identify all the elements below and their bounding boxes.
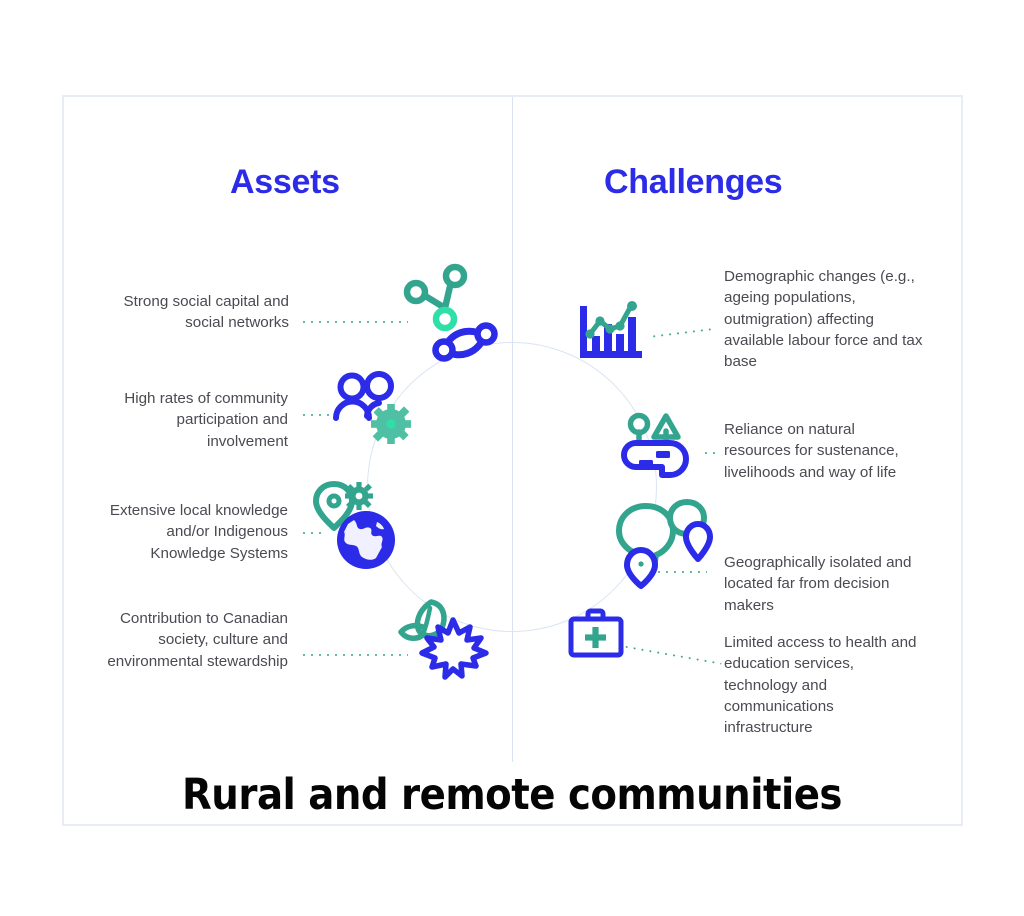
social-network-icon [398,262,504,368]
medical-kit-icon [567,609,625,659]
people-gear-icon [333,372,415,444]
infographic-canvas: Assets Challenges Strong social capital … [0,0,1024,916]
leader-line-asset-1 [300,321,408,323]
list-item-challenge-2-label: Reliance on natural resources for susten… [724,419,914,483]
natural-resources-icon [620,413,698,479]
list-item-asset-3-label: Extensive local knowledge and/or Indigen… [95,500,288,564]
leader-line-challenge-2 [702,452,716,454]
leader-line-challenge-3 [655,571,707,573]
page-title-bottom: Rural and remote communities [0,770,1024,820]
bar-chart-icon [578,300,648,362]
list-item-challenge-4-label: Limited access to health and education s… [724,632,920,738]
maple-leaf-icon [398,596,490,682]
leader-line-asset-2 [300,414,330,416]
globe-location-icon [314,478,404,570]
list-item-asset-2-label: High rates of community participation an… [100,388,288,452]
leader-line-asset-4 [300,654,408,656]
list-item-asset-1-label: Strong social capital and social network… [105,291,289,334]
page-title-challenges: Challenges [604,163,782,202]
list-item-asset-4-label: Contribution to Canadian society, cultur… [97,608,288,672]
map-pins-icon [614,496,718,588]
page-title-assets: Assets [230,163,340,202]
list-item-challenge-1-label: Demographic changes (e.g., ageing popula… [724,266,932,372]
list-item-challenge-3-label: Geographically isolated and located far … [724,552,920,616]
